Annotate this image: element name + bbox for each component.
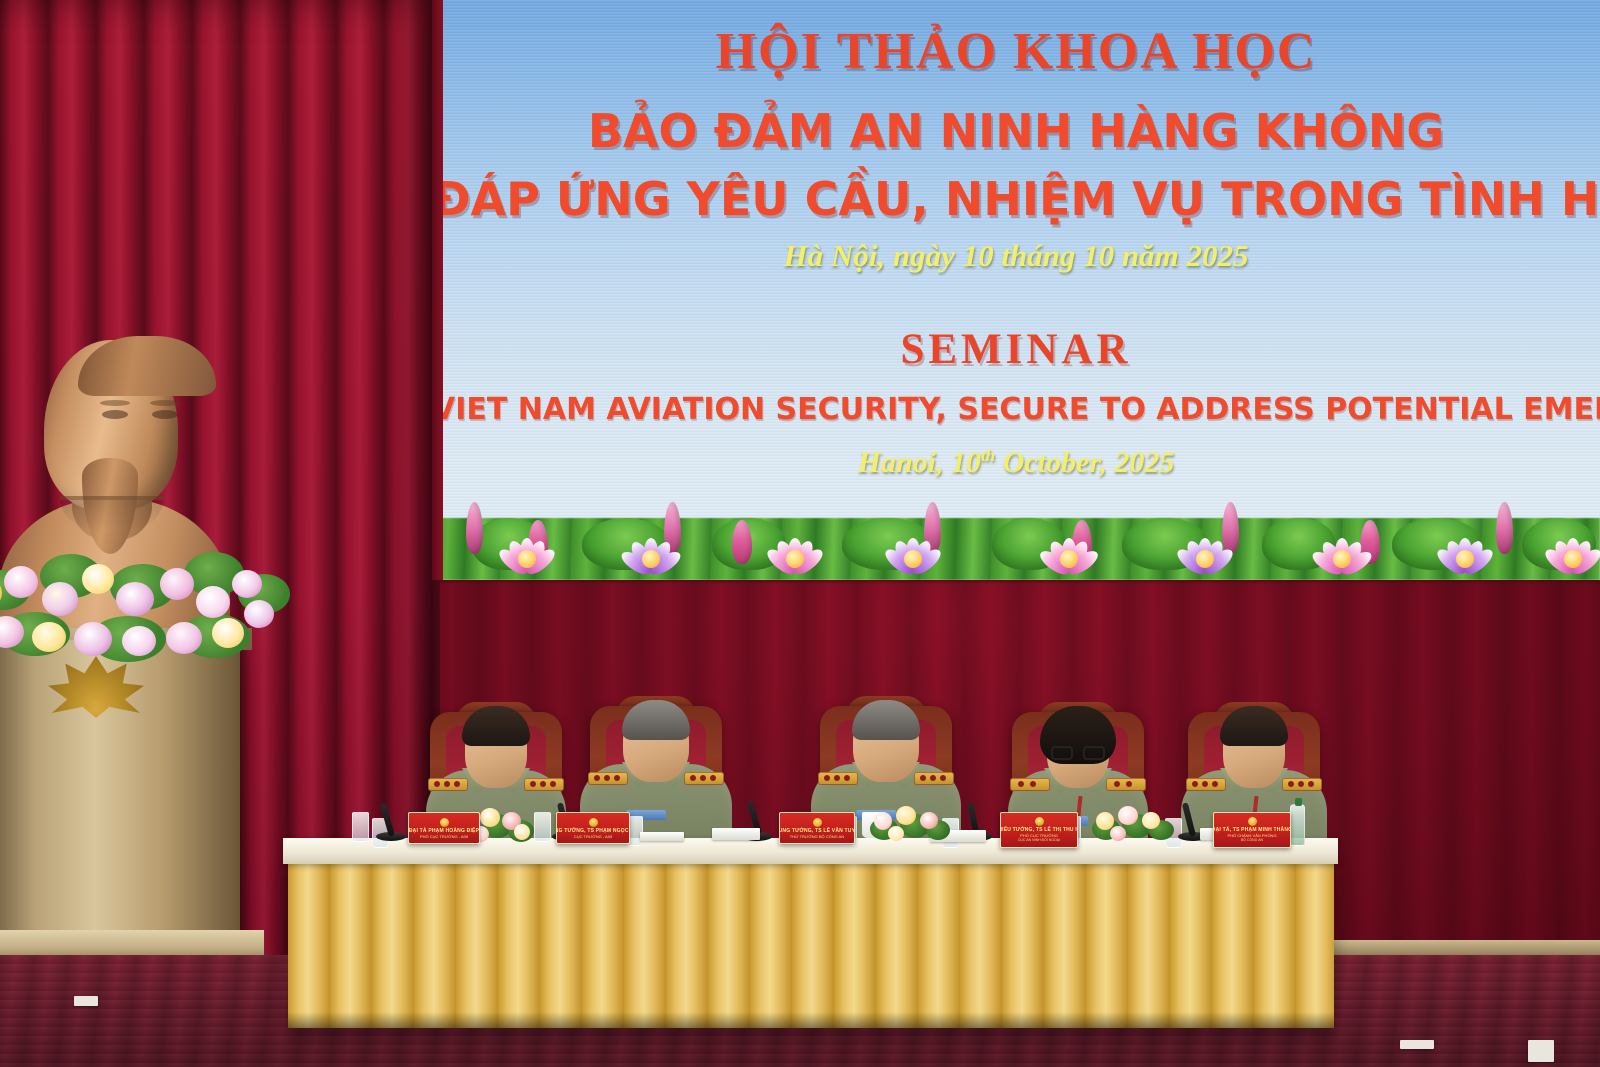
led-presentation-screen: HỘI THẢO KHOA HỌC BẢO ĐẢM AN NINH HÀNG K… bbox=[432, 0, 1600, 580]
bust-eye-right bbox=[152, 410, 178, 419]
date-en-rest: October, 2025 bbox=[995, 446, 1174, 479]
lotus-flower-icon bbox=[1432, 522, 1498, 578]
seminar-heading-en-2: VIET NAM AVIATION SECURITY, SECURE TO AD… bbox=[432, 392, 1600, 427]
police-emblem-icon bbox=[589, 818, 598, 827]
police-emblem-icon bbox=[1248, 817, 1257, 826]
floor-litter bbox=[1528, 1040, 1554, 1062]
document-papers bbox=[640, 832, 684, 841]
lotus-flower-icon bbox=[1540, 522, 1600, 578]
seminar-heading-vi-3: ĐÁP ỨNG YÊU CẦU, NHIỆM VỤ TRONG TÌNH HÌN… bbox=[432, 172, 1600, 226]
lotus-flower-icon bbox=[1302, 522, 1382, 578]
epaulette-left bbox=[428, 778, 468, 791]
nameplate-seat-1: ĐẠI TÁ PHẠM HOÀNG ĐIỆP PHÓ CỤC TRƯỞNG - … bbox=[408, 812, 480, 844]
nameplate-title: PHÓ CỤC TRƯỞNG - A09 bbox=[420, 834, 468, 839]
seminar-heading-vi-2: BẢO ĐẢM AN NINH HÀNG KHÔNG bbox=[432, 104, 1600, 158]
epaulette-left bbox=[1010, 778, 1050, 791]
led-screen-left-frame bbox=[432, 0, 443, 580]
lotus-flower-icon bbox=[1032, 522, 1106, 578]
nameplate-seat-2: TRUNG TƯỚNG, TS PHẠM NGỌC VIỆT CỤC TRƯỞN… bbox=[556, 812, 630, 844]
lotus-bud-icon bbox=[466, 502, 483, 554]
nameplate-title: THỨ TRƯỞNG BỘ CÔNG AN bbox=[790, 834, 844, 839]
epaulette-right bbox=[524, 778, 564, 791]
seminar-heading-en-1: SEMINAR bbox=[432, 325, 1600, 374]
eyeglasses-icon bbox=[1051, 746, 1105, 760]
lotus-flower-icon bbox=[880, 522, 946, 578]
lotus-bud-icon bbox=[1496, 502, 1513, 554]
bust-eyebrow-right bbox=[150, 400, 180, 406]
epaulette-left bbox=[1186, 778, 1226, 791]
document-papers bbox=[712, 828, 760, 840]
epaulette-right bbox=[1106, 778, 1146, 791]
bust-eyebrow-left bbox=[100, 400, 130, 406]
date-en-city: Hanoi, 10 bbox=[858, 446, 981, 479]
floor-litter bbox=[1400, 1040, 1434, 1049]
lotus-border-decoration bbox=[432, 488, 1600, 580]
nameplate-subtitle: CỤC AN NINH ĐỐI NGOẠI bbox=[1018, 838, 1060, 843]
police-emblem-icon bbox=[440, 818, 449, 827]
police-emblem-icon bbox=[1035, 817, 1044, 826]
epaulette-right bbox=[1282, 778, 1322, 791]
bust-eye-left bbox=[102, 410, 128, 419]
bust-hair bbox=[78, 336, 216, 396]
lotus-flower-icon bbox=[1172, 522, 1238, 578]
seminar-date-en: Hanoi, 10th October, 2025 bbox=[432, 446, 1600, 480]
seminar-date-vi: Hà Nội, ngày 10 tháng 10 năm 2025 bbox=[432, 238, 1600, 274]
floor-litter bbox=[74, 996, 98, 1006]
epaulette-left bbox=[818, 772, 858, 785]
epaulette-right bbox=[684, 772, 724, 785]
date-en-ordinal: th bbox=[981, 446, 995, 465]
lotus-flower-icon bbox=[494, 522, 560, 578]
table-flower-posy bbox=[866, 798, 952, 844]
police-emblem-icon bbox=[813, 818, 822, 827]
conference-stage-scene: HỘI THẢO KHOA HỌC BẢO ĐẢM AN NINH HÀNG K… bbox=[0, 0, 1600, 1067]
lotus-flower-icon bbox=[762, 522, 828, 578]
nameplate-title: CỤC TRƯỞNG - A09 bbox=[574, 834, 612, 839]
water-bottle bbox=[1290, 804, 1305, 846]
nameplate-seat-5: ĐẠI TÁ, TS PHẠM MINH THẮNG PHÓ CHÁNH VĂN… bbox=[1213, 812, 1291, 848]
seminar-heading-vi-1: HỘI THẢO KHOA HỌC bbox=[432, 22, 1600, 81]
panel-table-skirt bbox=[288, 860, 1334, 1028]
nameplate-subtitle: BỘ CÔNG AN bbox=[1241, 838, 1263, 843]
table-flower-posy bbox=[1090, 798, 1176, 844]
epaulette-left bbox=[588, 772, 628, 785]
water-glass bbox=[352, 812, 369, 842]
nameplate-seat-4: THIẾU TƯỚNG, TS LÊ THỊ THU HÀ PHÓ CỤC TR… bbox=[1000, 812, 1078, 848]
lotus-flower-icon bbox=[612, 522, 690, 578]
nameplate-seat-3: TRUNG TƯỚNG, TS LÊ VĂN TUYẾN THỨ TRƯỞNG … bbox=[779, 812, 855, 844]
epaulette-right bbox=[914, 772, 954, 785]
bust-floral-arrangement bbox=[0, 530, 290, 670]
